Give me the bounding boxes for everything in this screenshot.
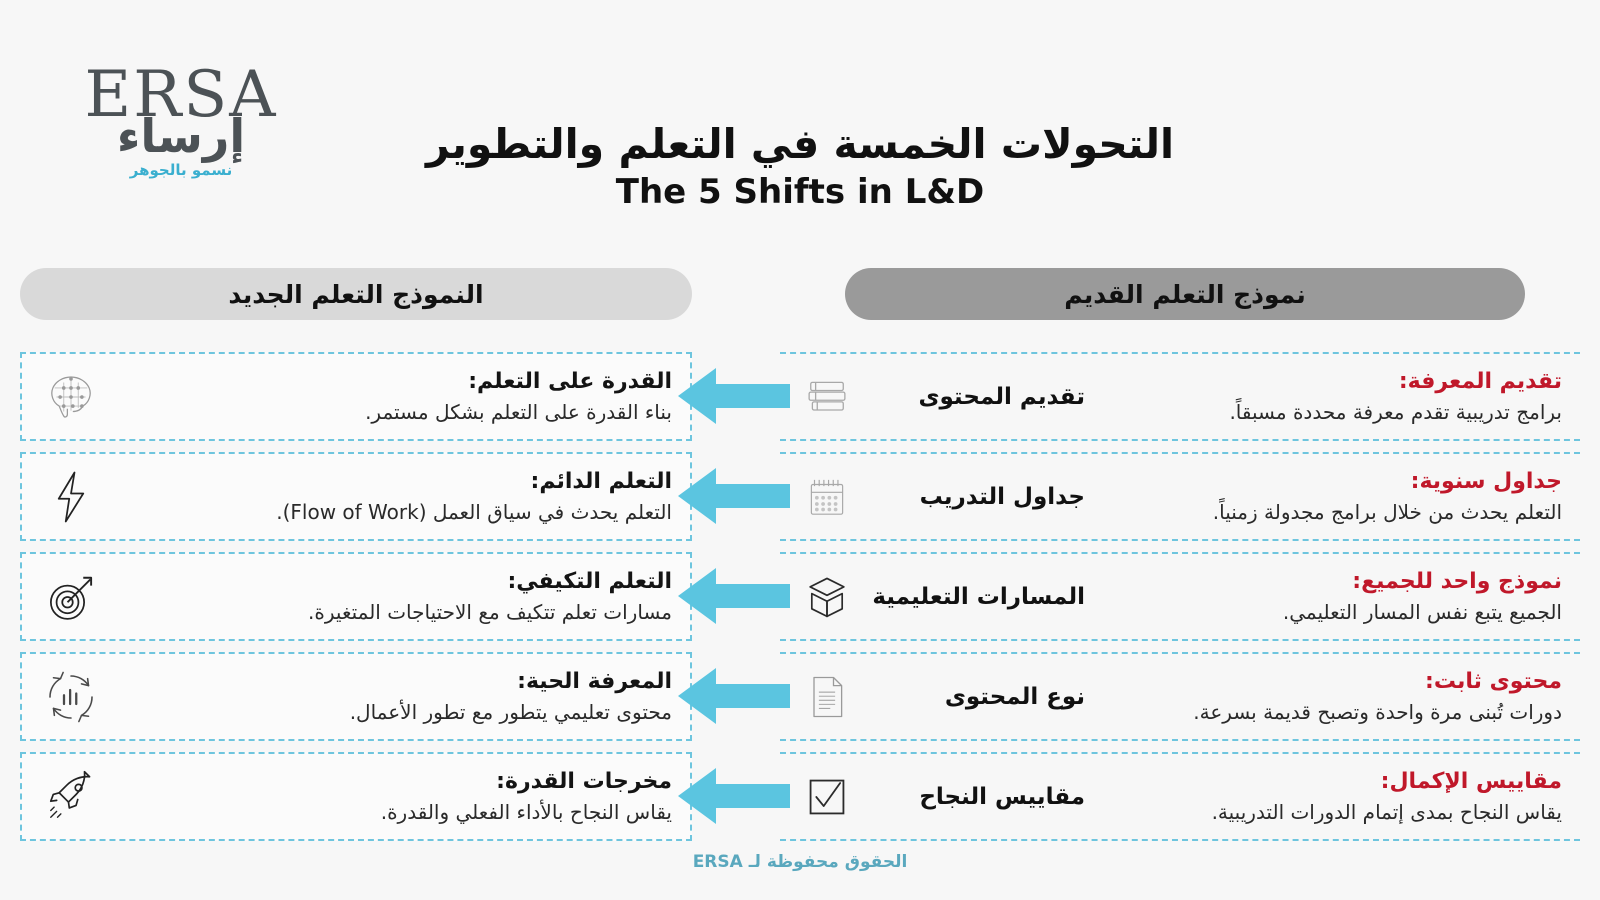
- old-model-lead: مقاييس الإكمال:: [1099, 768, 1562, 796]
- old-model-lead: جداول سنوية:: [1099, 468, 1562, 496]
- new-model-cell: القدرة على التعلم: بناء القدرة على التعل…: [20, 352, 692, 441]
- row-category-label: المسارات التعليمية: [870, 584, 1085, 610]
- calendar-icon: [798, 468, 856, 526]
- column-header-new-model: النموذج التعلم الجديد: [20, 268, 692, 320]
- page-title-arabic: التحولات الخمسة في التعلم والتطوير: [0, 120, 1600, 168]
- shift-arrow-icon: [678, 566, 790, 626]
- checkbox-check-icon: [798, 768, 856, 826]
- shift-arrow-icon: [678, 766, 790, 826]
- old-model-desc: الجميع يتبع نفس المسار التعليمي.: [1099, 599, 1562, 625]
- table-row: التعلم التكيفي: مسارات تعلم تتكيف مع الا…: [0, 552, 1600, 649]
- cycle-chart-icon: [40, 666, 102, 728]
- row-category-label: جداول التدريب: [870, 484, 1085, 510]
- old-model-cell: جداول سنوية: التعلم يحدث من خلال برامج م…: [780, 452, 1580, 541]
- page-header: ERSA إرساء نسمو بالجوهر التحولات الخمسة …: [0, 0, 1600, 250]
- old-model-desc: التعلم يحدث من خلال برامج مجدولة زمنياً.: [1099, 499, 1562, 525]
- old-model-lead: نموذج واحد للجميع:: [1099, 568, 1562, 596]
- new-model-lead: المعرفة الحية:: [116, 668, 672, 696]
- new-model-lead: مخرجات القدرة:: [116, 768, 672, 796]
- title-block: التحولات الخمسة في التعلم والتطوير The 5…: [0, 120, 1600, 213]
- infographic-page: ERSA إرساء نسمو بالجوهر التحولات الخمسة …: [0, 0, 1600, 900]
- new-model-desc: مسارات تعلم تتكيف مع الاحتياجات المتغيرة…: [116, 599, 672, 625]
- old-model-desc: برامج تدريبية تقدم معرفة محددة مسبقاً.: [1099, 399, 1562, 425]
- footer-copyright: الحقوق محفوظة لـ ERSA: [0, 852, 1600, 872]
- table-row: المعرفة الحية: محتوى تعليمي يتطور مع تطو…: [0, 652, 1600, 749]
- document-icon: [798, 668, 856, 726]
- table-row: التعلم الدائم: التعلم يحدث في سياق العمل…: [0, 452, 1600, 549]
- books-stack-icon: [798, 368, 856, 426]
- new-model-lead: التعلم الدائم:: [116, 468, 672, 496]
- rocket-icon: [40, 766, 102, 828]
- shift-arrow-icon: [678, 466, 790, 526]
- table-row: مخرجات القدرة: يقاس النجاح بالأداء الفعل…: [0, 752, 1600, 849]
- column-header-old-model: نموذج التعلم القديم: [845, 268, 1525, 320]
- new-model-desc: التعلم يحدث في سياق العمل (Flow of Work)…: [116, 499, 672, 525]
- new-model-cell: مخرجات القدرة: يقاس النجاح بالأداء الفعل…: [20, 752, 692, 841]
- comparison-rows: القدرة على التعلم: بناء القدرة على التعل…: [0, 352, 1600, 852]
- lightning-bolt-icon: [40, 466, 102, 528]
- row-category-label: تقديم المحتوى: [870, 384, 1085, 410]
- page-title-english: The 5 Shifts in L&D: [0, 172, 1600, 213]
- new-model-desc: بناء القدرة على التعلم بشكل مستمر.: [116, 399, 672, 425]
- shift-arrow-icon: [678, 666, 790, 726]
- new-model-cell: التعلم الدائم: التعلم يحدث في سياق العمل…: [20, 452, 692, 541]
- old-model-cell: محتوى ثابت: دورات تُبنى مرة واحدة وتصبح …: [780, 652, 1580, 741]
- new-model-lead: التعلم التكيفي:: [116, 568, 672, 596]
- table-row: القدرة على التعلم: بناء القدرة على التعل…: [0, 352, 1600, 449]
- row-category-label: مقاييس النجاح: [870, 784, 1085, 810]
- row-category-label: نوع المحتوى: [870, 684, 1085, 710]
- old-model-lead: محتوى ثابت:: [1099, 668, 1562, 696]
- old-model-cell: نموذج واحد للجميع: الجميع يتبع نفس المسا…: [780, 552, 1580, 641]
- old-model-cell: مقاييس الإكمال: يقاس النجاح بمدى إتمام ا…: [780, 752, 1580, 841]
- new-model-cell: المعرفة الحية: محتوى تعليمي يتطور مع تطو…: [20, 652, 692, 741]
- new-model-cell: التعلم التكيفي: مسارات تعلم تتكيف مع الا…: [20, 552, 692, 641]
- new-model-desc: محتوى تعليمي يتطور مع تطور الأعمال.: [116, 699, 672, 725]
- old-model-desc: يقاس النجاح بمدى إتمام الدورات التدريبية…: [1099, 799, 1562, 825]
- old-model-lead: تقديم المعرفة:: [1099, 368, 1562, 396]
- box-package-icon: [798, 568, 856, 626]
- target-arrow-icon: [40, 566, 102, 628]
- old-model-cell: تقديم المعرفة: برامج تدريبية تقدم معرفة …: [780, 352, 1580, 441]
- new-model-lead: القدرة على التعلم:: [116, 368, 672, 396]
- old-model-desc: دورات تُبنى مرة واحدة وتصبح قديمة بسرعة.: [1099, 699, 1562, 725]
- shift-arrow-icon: [678, 366, 790, 426]
- new-model-desc: يقاس النجاح بالأداء الفعلي والقدرة.: [116, 799, 672, 825]
- brain-network-icon: [40, 366, 102, 428]
